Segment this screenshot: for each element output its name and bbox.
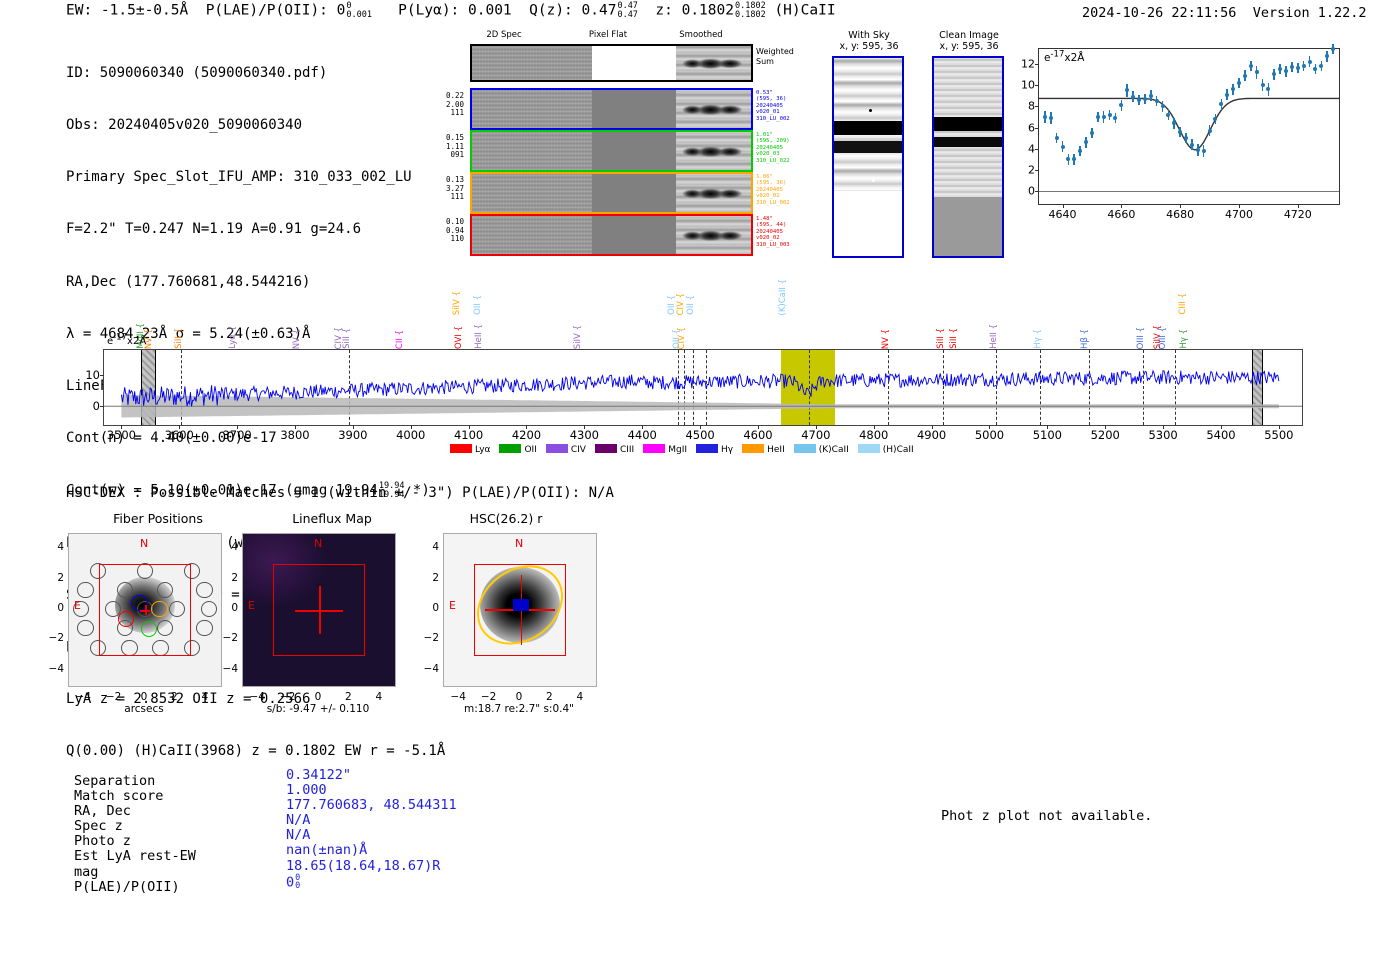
hsc-r-xtick: −4	[450, 691, 465, 703]
legend-swatch	[546, 444, 568, 453]
fiber-positions-ytick: 0	[46, 602, 64, 614]
lineplot-datapoint	[1113, 116, 1117, 120]
lineplot-datapoint	[1296, 66, 1300, 70]
weighted-sum-pixelflat	[592, 46, 676, 80]
spectrum-legend: LyαOIICIVCIIIMgIIHγHeII(K)CaII(H)CaII	[450, 444, 923, 455]
hsc-r-ytick: 0	[421, 602, 439, 614]
lineplot-datapoint	[1161, 104, 1165, 108]
with-sky-panel: With Sky x, y: 595, 36	[828, 30, 910, 52]
match-table-label: Separation	[74, 774, 196, 789]
lineplot-datapoint	[1319, 64, 1323, 68]
lineflux-map-xtick: 4	[375, 691, 382, 703]
lineplot-datapoint	[1255, 70, 1259, 74]
lineflux-map-ytick: −2	[220, 632, 238, 644]
with-sky-image	[832, 56, 904, 258]
fiber-positions-image[interactable]	[68, 533, 222, 687]
fiber-right-meta: 1.48"(595, 44)20240405v020_02310_LU_003	[756, 216, 790, 248]
info-qz-line: Q(0.00) (H)CaII(3968) z = 0.1802 EW r = …	[66, 743, 445, 760]
fiber-smoothed	[676, 174, 751, 212]
info-fwhm: F=2.2" T=0.247 N=1.19 A=0.91 g=24.6	[66, 221, 445, 238]
hsc-r-ytick: −2	[421, 632, 439, 644]
lineflux-map-north-label: N	[314, 537, 322, 550]
lineplot-datapoint	[1302, 64, 1306, 68]
panel-title-lineflux-map: Lineflux Map	[237, 511, 427, 526]
panel-title-fiber-positions: Fiber Positions	[63, 511, 253, 526]
spectrum-line-label: NV {	[293, 329, 302, 349]
legend-label: HeII	[767, 445, 785, 455]
lineplot-xtick: 4680	[1166, 208, 1194, 221]
legend-swatch	[696, 444, 718, 453]
lineplot-datapoint	[1313, 67, 1317, 71]
lineplot-datapoint	[1219, 102, 1223, 106]
lineplot-ytick-mark	[1035, 149, 1039, 150]
header-plya: P(Lyα): 0.001	[398, 3, 512, 19]
with-sky-coords: x, y: 595, 36	[828, 41, 910, 52]
lineplot-ytick: 8	[1028, 100, 1035, 113]
lineplot-datapoint	[1125, 88, 1129, 92]
spectrum-xtick: 4700	[801, 428, 830, 442]
hsc-r-xtick: 4	[576, 691, 583, 703]
header-z-range: 0.18020.1802	[735, 2, 766, 19]
lineplot-xtick: 4700	[1225, 208, 1253, 221]
fiber-2dspec	[472, 90, 592, 128]
header-z-line: (H)CaII	[774, 3, 835, 19]
spectrum-xtick-mark	[1105, 425, 1106, 429]
lineflux-center-cross-v	[319, 586, 321, 635]
match-table-label: Spec z	[74, 819, 196, 834]
spectrum-xtick-mark	[121, 425, 122, 429]
match-table-label: Photo z	[74, 834, 196, 849]
lineplot-ytick: 12	[1021, 57, 1035, 70]
header-qz: Q(z): 0.47	[529, 3, 616, 19]
lineplot-xtick-mark	[1298, 204, 1299, 208]
match-table-label: Est LyA rest-EW	[74, 849, 196, 864]
fiber-panel	[470, 214, 753, 256]
lineplot-ytick-mark	[1035, 85, 1039, 86]
spectrum-line-label: OIII {	[1159, 327, 1168, 349]
spectrum-line-label: OVI {	[455, 326, 464, 349]
panel-title-hsc-r: HSC(26.2) r	[411, 511, 601, 526]
lineplot-datapoint	[1078, 149, 1082, 153]
spectrum-line-label: NV {	[882, 329, 891, 349]
fiber-circle	[196, 582, 213, 599]
fiber-positions-ytick: 4	[46, 541, 64, 553]
fiber-smoothed	[676, 132, 751, 170]
fiber-2dspec	[472, 216, 592, 254]
fiber-right-meta: 1.06"(595, 36)20240405v020_02310_LU_002	[756, 174, 790, 206]
lineplot-datapoint	[1108, 113, 1112, 117]
fiber-left-stats: 0.100.94110	[434, 218, 464, 244]
match-table-label: RA, Dec	[74, 804, 196, 819]
lineflux-map-xtick: −4	[249, 691, 264, 703]
spectrum-xtick-mark	[816, 425, 817, 429]
lineplot-xtick: 4640	[1049, 208, 1077, 221]
legend-swatch	[794, 444, 816, 453]
spectrum-line-label: SiII {	[343, 328, 352, 349]
lineplot-ytick: 0	[1028, 185, 1035, 198]
fiber-pixelflat	[592, 132, 676, 170]
lineplot-datapoint	[1243, 74, 1247, 78]
timestamp: 2024-10-26 22:11:56	[1082, 5, 1236, 21]
spectrum-xtick-mark	[469, 425, 470, 429]
fiber-positions-ytick: 2	[46, 572, 64, 584]
legend-item: (H)CaII	[858, 444, 914, 455]
match-table-value: 000	[286, 874, 457, 889]
fiber-panel	[470, 88, 753, 130]
header-summary-line: EW: -1.5±-0.5Å P(LAE)/P(OII): 000.001 P(…	[66, 2, 836, 19]
spectrum-xtick-mark	[179, 425, 180, 429]
spectrum-xtick: 4100	[454, 428, 483, 442]
lineplot-datapoint	[1090, 131, 1094, 135]
spectrum-line-label: SiII {	[950, 328, 959, 349]
spectrum-xtick-mark	[989, 425, 990, 429]
fiber-smoothed	[676, 90, 751, 128]
fiber-pixelflat	[592, 174, 676, 212]
spectrum-xtick: 4800	[859, 428, 888, 442]
legend-item: Hγ	[696, 444, 733, 455]
weighted-sum-panel	[470, 44, 753, 82]
spectrum-line-label: SiIV {	[453, 291, 462, 315]
spectrum-xtick-mark	[1221, 425, 1222, 429]
legend-item: CIII	[595, 444, 634, 455]
legend-label: (K)CaII	[819, 445, 849, 455]
fiber-positions-xtick: 4	[201, 691, 208, 703]
spectrum-line-labels: MgII {NV {SiII {Lyα {NV {CIV {SiII {CII …	[103, 282, 1301, 349]
match-table-value: 0.34122"	[286, 768, 457, 783]
lineflux-map-xlabel: s/b: -9.47 +/- 0.110	[242, 703, 394, 715]
lineplot-canvas	[1039, 49, 1339, 204]
spectrum-line-label: OII {	[474, 295, 483, 315]
match-table-value: N/A	[286, 813, 457, 828]
clean-image-bitmap	[932, 56, 1004, 258]
header-ew: EW: -1.5±-0.5Å	[66, 3, 188, 19]
hsc-r-ytick: 2	[421, 572, 439, 584]
lineflux-map-image[interactable]	[242, 533, 396, 687]
fiber-pixelflat	[592, 90, 676, 128]
legend-label: CIII	[620, 445, 634, 455]
line-profile-plot: e-17x2Å 02468101246404660468047004720	[1038, 48, 1340, 205]
lineplot-datapoint	[1061, 145, 1065, 149]
legend-item: CIV	[546, 444, 586, 455]
hscdex-headline: HSC-DEX : Possible Matches = 1 (within +…	[66, 485, 614, 501]
lineplot-datapoint	[1055, 136, 1059, 140]
header-plae-range: 00.001	[346, 2, 372, 19]
fiber-positions-xtick: 2	[171, 691, 178, 703]
hsc-r-xlabel: m:18.7 re:2.7" s:0.4"	[443, 703, 595, 715]
header-plae-value: 0	[337, 3, 346, 19]
lineplot-datapoint	[1149, 94, 1153, 98]
lineplot-datapoint	[1166, 113, 1170, 117]
fiber-pixelflat	[592, 216, 676, 254]
spectrum-flux-units: e-17x2Å	[107, 336, 146, 347]
spectrum-ytick: 10	[85, 368, 100, 382]
fiber-positions-east-label: E	[74, 599, 81, 612]
spectrum-line-label: OIII {	[1137, 327, 1146, 349]
legend-item: MgII	[643, 444, 687, 455]
match-table-value: 177.760683, 48.544311	[286, 798, 457, 813]
lineplot-datapoint	[1290, 65, 1294, 69]
legend-swatch	[643, 444, 665, 453]
spectrum-xtick: 4000	[396, 428, 425, 442]
spectrum-xtick: 3800	[280, 428, 309, 442]
lineplot-datapoint	[1266, 87, 1270, 91]
spectrum-xtick-mark	[526, 425, 527, 429]
spectrum-line-label: NV {	[145, 329, 154, 349]
spectrum-line-label: SiII {	[175, 328, 184, 349]
lineflux-map-east-label: E	[248, 599, 255, 612]
fiber-circle	[201, 601, 218, 618]
legend-swatch	[450, 444, 472, 453]
lineplot-datapoint	[1249, 64, 1253, 68]
lineplot-fit-curve	[1039, 49, 1339, 204]
match-table-label: mag	[74, 865, 196, 880]
spectrum-line-label: CII {	[396, 330, 405, 349]
lineflux-map-xtick: 0	[315, 691, 322, 703]
spectrum-line-label: OII {	[687, 295, 696, 315]
lineplot-ytick: 6	[1028, 121, 1035, 134]
spectrum-xtick-mark	[411, 425, 412, 429]
spectrum-xtick: 4900	[917, 428, 946, 442]
fiber-circle	[77, 582, 94, 599]
fiber-left-stats: 0.151.11091	[434, 134, 464, 160]
spectrum-xtick-mark	[295, 425, 296, 429]
spectrum-line-label: CIII {	[1179, 293, 1188, 315]
spectrum-xtick-mark	[1047, 425, 1048, 429]
spectrum-xtick-mark	[874, 425, 875, 429]
lineplot-ytick-mark	[1035, 128, 1039, 129]
clean-image-panel: Clean Image x, y: 595, 36	[928, 30, 1010, 52]
clean-image-title: Clean Image	[928, 30, 1010, 41]
lineplot-datapoint	[1208, 129, 1212, 133]
hsc-r-east-label: E	[449, 599, 456, 612]
lineplot-datapoint	[1190, 143, 1194, 147]
with-sky-title: With Sky	[828, 30, 910, 41]
spectrum-xtick-mark	[642, 425, 643, 429]
weighted-sum-2dspec	[472, 46, 592, 80]
fiber-2dspec	[472, 174, 592, 212]
fiber-positions-ytick: −4	[46, 663, 64, 675]
lineplot-ytick-mark	[1035, 106, 1039, 107]
hsc-r-image[interactable]	[443, 533, 597, 687]
lineplot-datapoint	[1278, 67, 1282, 71]
lineplot-datapoint	[1102, 115, 1106, 119]
fiber-positions-xtick: 0	[141, 691, 148, 703]
hsc-r-ytick: −4	[421, 663, 439, 675]
clean-image-coords: x, y: 595, 36	[928, 41, 1010, 52]
fiber-positions-xtick: −2	[106, 691, 121, 703]
lineplot-datapoint	[1261, 83, 1265, 87]
spectrum-xtick-mark	[584, 425, 585, 429]
spectrum-xtick: 4600	[743, 428, 772, 442]
header-qz-range: 0.470.47	[617, 2, 637, 19]
spectrum-xtick-mark	[353, 425, 354, 429]
spectrum-xtick: 5400	[1206, 428, 1235, 442]
spectrum-ytick: 0	[93, 399, 100, 413]
lineplot-xtick: 4720	[1284, 208, 1312, 221]
fiber-positions-north-label: N	[140, 537, 148, 550]
lineplot-xtick-mark	[1239, 204, 1240, 208]
hsc-r-xtick: 2	[546, 691, 553, 703]
legend-label: MgII	[668, 445, 687, 455]
version-label: Version 1.22.2	[1253, 5, 1367, 21]
spectrum-line-label: Lyα {	[229, 326, 238, 349]
spectrum-trace	[104, 350, 1302, 425]
spectrum-line-label: CIV {	[678, 327, 687, 349]
lineplot-ytick: 2	[1028, 164, 1035, 177]
lineplot-datapoint	[1137, 98, 1141, 102]
lineplot-ytick-mark	[1035, 170, 1039, 171]
spectrum-line-label: HeII {	[475, 324, 484, 349]
legend-label: OII	[524, 445, 536, 455]
lineplot-datapoint	[1043, 115, 1047, 119]
legend-label: Hγ	[721, 445, 733, 455]
fiber-left-stats: 0.222.00111	[434, 92, 464, 118]
spectrum-line-label: CIV {	[677, 293, 686, 315]
spectrum-xtick-mark	[1163, 425, 1164, 429]
spectrum-xtick: 3600	[165, 428, 194, 442]
lineflux-map-xtick: −2	[280, 691, 295, 703]
hsc-r-xtick: 0	[516, 691, 523, 703]
match-table-label: P(LAE)/P(OII)	[74, 880, 196, 895]
lineplot-datapoint	[1049, 116, 1053, 120]
spectrum-xtick: 3500	[107, 428, 136, 442]
fiber-positions-xlabel: arcsecs	[68, 703, 220, 715]
spectrum-xtick: 4200	[512, 428, 541, 442]
spectrum-xtick: 5300	[1148, 428, 1177, 442]
fiber-center-cross-v	[145, 605, 147, 615]
match-table-plae-range: 00	[295, 874, 300, 891]
match-table-value: 1.000	[286, 783, 457, 798]
legend-label: Lyα	[475, 445, 490, 455]
lineplot-datapoint	[1237, 81, 1241, 85]
spectrum-xtick-mark	[1279, 425, 1280, 429]
lineplot-xtick-mark	[1180, 204, 1181, 208]
info-obs: Obs: 20240405v020_5090060340	[66, 117, 445, 134]
weighted-sum-smoothed	[676, 46, 751, 80]
lineflux-map-ytick: 0	[220, 602, 238, 614]
fiber-circle	[77, 620, 94, 637]
lineplot-datapoint	[1196, 148, 1200, 152]
legend-swatch	[595, 444, 617, 453]
lineplot-datapoint	[1225, 93, 1229, 97]
spectrum-xtick: 5200	[1091, 428, 1120, 442]
fiber-right-meta: 1.01"(595, 209)20240405v020_03310_LU_022	[756, 132, 790, 164]
spectrum-line-label: SiII {	[937, 328, 946, 349]
legend-swatch	[742, 444, 764, 453]
match-table-value: 18.65(18.64,18.67)R	[286, 859, 457, 874]
timestamp-version: 2024-10-26 22:11:56 Version 1.22.2	[1082, 5, 1367, 21]
fiber-row-group: 0.222.001110.53"(595, 36)20240405v020_01…	[434, 88, 764, 256]
hsc-r-xtick: −2	[481, 691, 496, 703]
header-z: z: 0.1802	[655, 3, 734, 19]
spectrum-line-label: (K)CaII {	[779, 279, 788, 315]
lineplot-datapoint	[1213, 117, 1217, 121]
fiber-smoothed	[676, 216, 751, 254]
lineplot-datapoint	[1178, 130, 1182, 134]
lineplot-datapoint	[1172, 121, 1176, 125]
lineplot-datapoint	[1308, 60, 1312, 64]
lineplot-ytick-mark	[1035, 64, 1039, 65]
col-title-2dspec: 2D Spec	[456, 30, 552, 40]
lineflux-map-xtick: 2	[345, 691, 352, 703]
spectrum-xtick-mark	[237, 425, 238, 429]
match-table-label: Match score	[74, 789, 196, 804]
lineplot-datapoint	[1072, 157, 1076, 161]
hsc-match-marker	[513, 599, 529, 611]
lineplot-datapoint	[1066, 157, 1070, 161]
col-title-smoothed: Smoothed	[656, 30, 746, 40]
lineplot-xtick-mark	[1121, 204, 1122, 208]
lineplot-datapoint	[1119, 103, 1123, 107]
lineplot-datapoint	[1325, 54, 1329, 58]
legend-label: CIV	[571, 445, 586, 455]
spectrum-line-label: Hγ {	[1034, 329, 1043, 349]
spectrum-xtick: 5000	[975, 428, 1004, 442]
spec2d-montage: 2D Spec Pixel Flat Smoothed Weighted Sum…	[434, 30, 764, 258]
lineflux-map-ytick: −4	[220, 663, 238, 675]
lineplot-ytick: 4	[1028, 142, 1035, 155]
lineplot-ytick: 10	[1021, 79, 1035, 92]
lineplot-datapoint	[1096, 115, 1100, 119]
hsc-r-north-label: N	[515, 537, 523, 550]
match-table-labels: SeparationMatch scoreRA, DecSpec zPhoto …	[74, 774, 196, 895]
lineplot-datapoint	[1143, 97, 1147, 101]
lineflux-map-ytick: 4	[220, 541, 238, 553]
lineplot-datapoint	[1272, 72, 1276, 76]
fiber-right-meta: 0.53"(595, 36)20240405v020_01310_LU_002	[756, 90, 790, 122]
lineplot-datapoint	[1155, 99, 1159, 103]
fiber-positions-xtick: −4	[75, 691, 90, 703]
hsc-r-ytick: 4	[421, 541, 439, 553]
spectrum-xtick: 5100	[1033, 428, 1062, 442]
photz-message: Phot z plot not available.	[941, 808, 1152, 824]
info-primary-spec: Primary Spec_Slot_IFU_AMP: 310_033_002_L…	[66, 169, 445, 186]
match-table-values: 0.34122"1.000177.760683, 48.544311N/AN/A…	[286, 768, 457, 889]
legend-item: HeII	[742, 444, 785, 455]
header-plae-label: P(LAE)/P(OII):	[206, 3, 328, 19]
spectrum-xtick-mark	[758, 425, 759, 429]
legend-item: (K)CaII	[794, 444, 849, 455]
fiber-circle	[196, 620, 213, 637]
legend-label: (H)CaII	[883, 445, 914, 455]
fiber-left-stats: 0.133.27111	[434, 176, 464, 202]
spectrum-xtick: 5500	[1264, 428, 1293, 442]
spectrum-xtick: 4400	[628, 428, 657, 442]
fiber-panel	[470, 130, 753, 172]
lineplot-datapoint	[1331, 47, 1335, 51]
fiber-positions-ytick: −2	[46, 632, 64, 644]
spectrum-line-label: SiIV {	[574, 325, 583, 349]
spectrum-line-label: HeII {	[990, 324, 999, 349]
full-spectrum-plot: e-17x2Å 35003600370038003900400041004200…	[103, 349, 1303, 426]
spectrum-xtick: 3900	[338, 428, 367, 442]
lineplot-datapoint	[1084, 140, 1088, 144]
spectrum-xtick: 4500	[685, 428, 714, 442]
fiber-panel	[470, 172, 753, 214]
weighted-sum-label: Weighted Sum	[756, 47, 794, 66]
lineplot-datapoint	[1131, 95, 1135, 99]
legend-item: Lyα	[450, 444, 490, 455]
spectrum-xtick-mark	[932, 425, 933, 429]
lineplot-datapoint	[1184, 136, 1188, 140]
spectrum-xtick-mark	[700, 425, 701, 429]
lineflux-map-ytick: 2	[220, 572, 238, 584]
lineplot-datapoint	[1202, 149, 1206, 153]
legend-item: OII	[499, 444, 536, 455]
legend-swatch	[499, 444, 521, 453]
lineplot-ytick-mark	[1035, 191, 1039, 192]
spectrum-xtick: 3700	[222, 428, 251, 442]
